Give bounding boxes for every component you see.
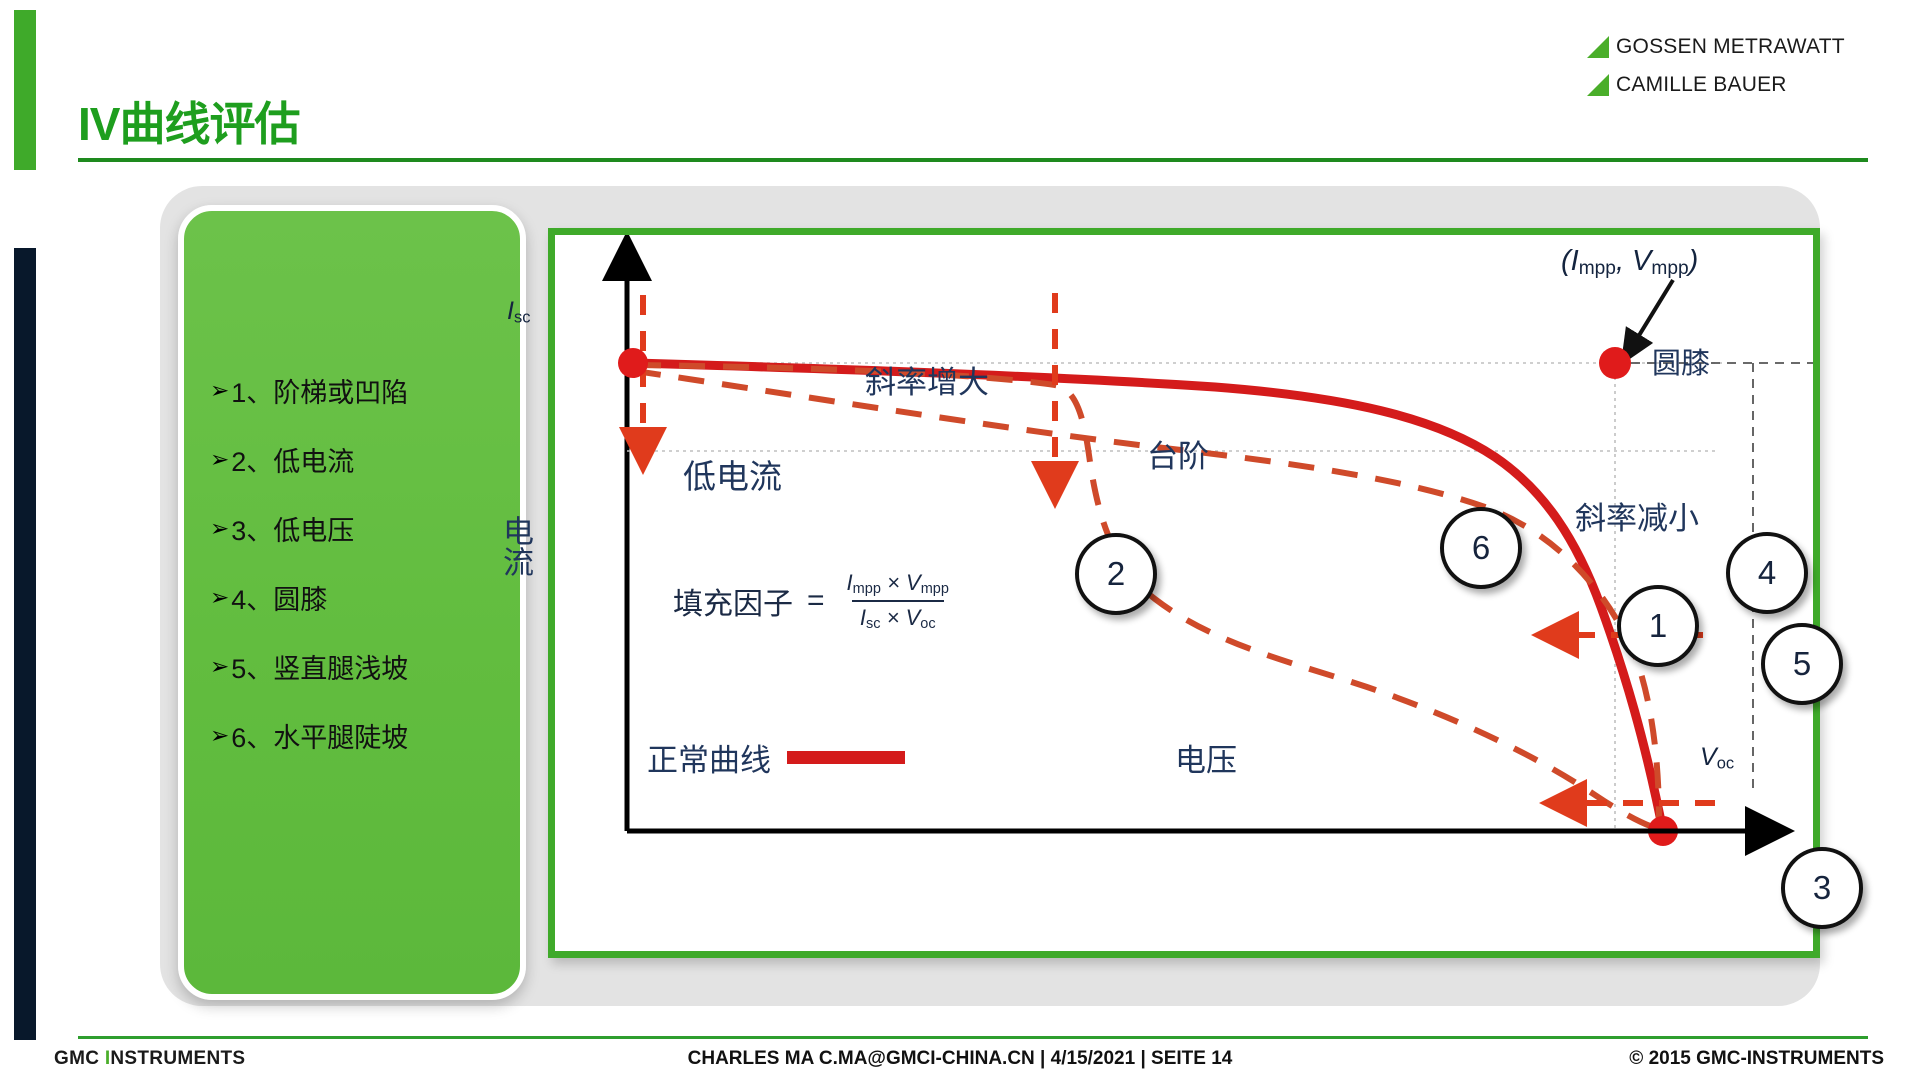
fault-list: ➢ 1、阶梯或凹陷 ➢ 2、低电流 ➢ 3、低电压 ➢ 4、圆膝 ➢ 5、竖直腿… (184, 371, 520, 755)
fill-factor-formula: 填充因子 = Impp × Vmpp Isc × Voc (673, 570, 957, 632)
label-voc: Voc (1700, 743, 1734, 774)
footer-center-text: CHARLES MA C.MA@GMCI-CHINA.CN | 4/15/202… (688, 1048, 1233, 1070)
formula-denominator: Isc × Voc (852, 600, 944, 632)
fault-marker-3[interactable]: 3 (1781, 847, 1863, 929)
fault-marker-1[interactable]: 1 (1617, 585, 1699, 667)
point-isc (618, 348, 648, 378)
list-item: ➢ 6、水平腿陡坡 (210, 716, 520, 755)
fault-marker-2[interactable]: 2 (1075, 533, 1157, 615)
annotation-step: 台阶 (1147, 431, 1209, 476)
title-underline (78, 158, 1868, 162)
annotation-slope-decrease: 斜率减小 (1575, 493, 1699, 538)
fault-marker-6[interactable]: 6 (1440, 507, 1522, 589)
label-isc: Isc (507, 297, 530, 328)
left-accent-bar-green (14, 10, 36, 170)
annotation-slope-increase: 斜率增大 (865, 357, 989, 402)
arrow-bullet-icon: ➢ (210, 584, 229, 611)
legend-label: 正常曲线 (647, 735, 771, 780)
list-item-label: 3、低电压 (231, 509, 354, 548)
formula-numerator: Impp × Vmpp (839, 570, 957, 600)
list-item: ➢ 2、低电流 (210, 440, 520, 479)
legend-color-swatch (787, 751, 905, 764)
label-mpp-coordinates: (Impp, Vmpp) (1561, 245, 1698, 280)
page-title: IV曲线评估 (78, 88, 299, 154)
arrow-bullet-icon: ➢ (210, 446, 229, 473)
iv-curve-chart: Isc Voc (Impp, Vmpp) 电流 电压 低电流 斜率增大 台阶 圆… (548, 228, 1820, 958)
list-item: ➢ 5、竖直腿浅坡 (210, 647, 520, 686)
list-item: ➢ 1、阶梯或凹陷 (210, 371, 520, 410)
logo-camille-bauer: CAMILLE BAUER (1584, 66, 1884, 104)
formula-fraction: Impp × Vmpp Isc × Voc (839, 570, 957, 632)
footer-brand-prefix: GMC (54, 1048, 105, 1069)
annotation-low-current: 低电流 (683, 450, 782, 498)
arrow-bullet-icon: ➢ (210, 515, 229, 542)
footer-brand: GMC INSTRUMENTS (54, 1048, 245, 1070)
triangle-icon (1584, 71, 1612, 99)
triangle-icon (1584, 33, 1612, 61)
logo-label: GOSSEN METRAWATT (1616, 35, 1845, 59)
fault-marker-4[interactable]: 4 (1726, 532, 1808, 614)
brand-logo-block: GOSSEN METRAWATT CAMILLE BAUER (1584, 28, 1884, 104)
left-accent-bar-navy (14, 248, 36, 1040)
logo-label: CAMILLE BAUER (1616, 73, 1787, 97)
arrow-bullet-icon: ➢ (210, 653, 229, 680)
point-mpp (1599, 347, 1631, 379)
x-axis-label: 电压 (1175, 735, 1237, 780)
fault-marker-5[interactable]: 5 (1761, 623, 1843, 705)
arrow-bullet-icon: ➢ (210, 377, 229, 404)
y-axis-label: 电流 (493, 515, 538, 577)
list-item-label: 4、圆膝 (231, 578, 327, 617)
arrow-bullet-icon: ➢ (210, 722, 229, 749)
list-item: ➢ 4、圆膝 (210, 578, 520, 617)
list-item-label: 1、阶梯或凹陷 (231, 371, 408, 410)
fault-list-card: ➢ 1、阶梯或凹陷 ➢ 2、低电流 ➢ 3、低电压 ➢ 4、圆膝 ➢ 5、竖直腿… (178, 205, 526, 1000)
list-item-label: 6、水平腿陡坡 (231, 716, 408, 755)
footer-brand-suffix: NSTRUMENTS (110, 1048, 245, 1069)
formula-lhs: 填充因子 (673, 579, 793, 623)
formula-equals: = (807, 584, 825, 618)
list-item-label: 2、低电流 (231, 440, 354, 479)
footer-copyright: © 2015 GMC-INSTRUMENTS (1629, 1048, 1884, 1070)
list-item: ➢ 3、低电压 (210, 509, 520, 548)
footer-divider (78, 1036, 1868, 1039)
logo-gossen-metrawatt: GOSSEN METRAWATT (1584, 28, 1884, 66)
annotation-round-knee: 圆膝 (1652, 340, 1710, 382)
list-item-label: 5、竖直腿浅坡 (231, 647, 408, 686)
